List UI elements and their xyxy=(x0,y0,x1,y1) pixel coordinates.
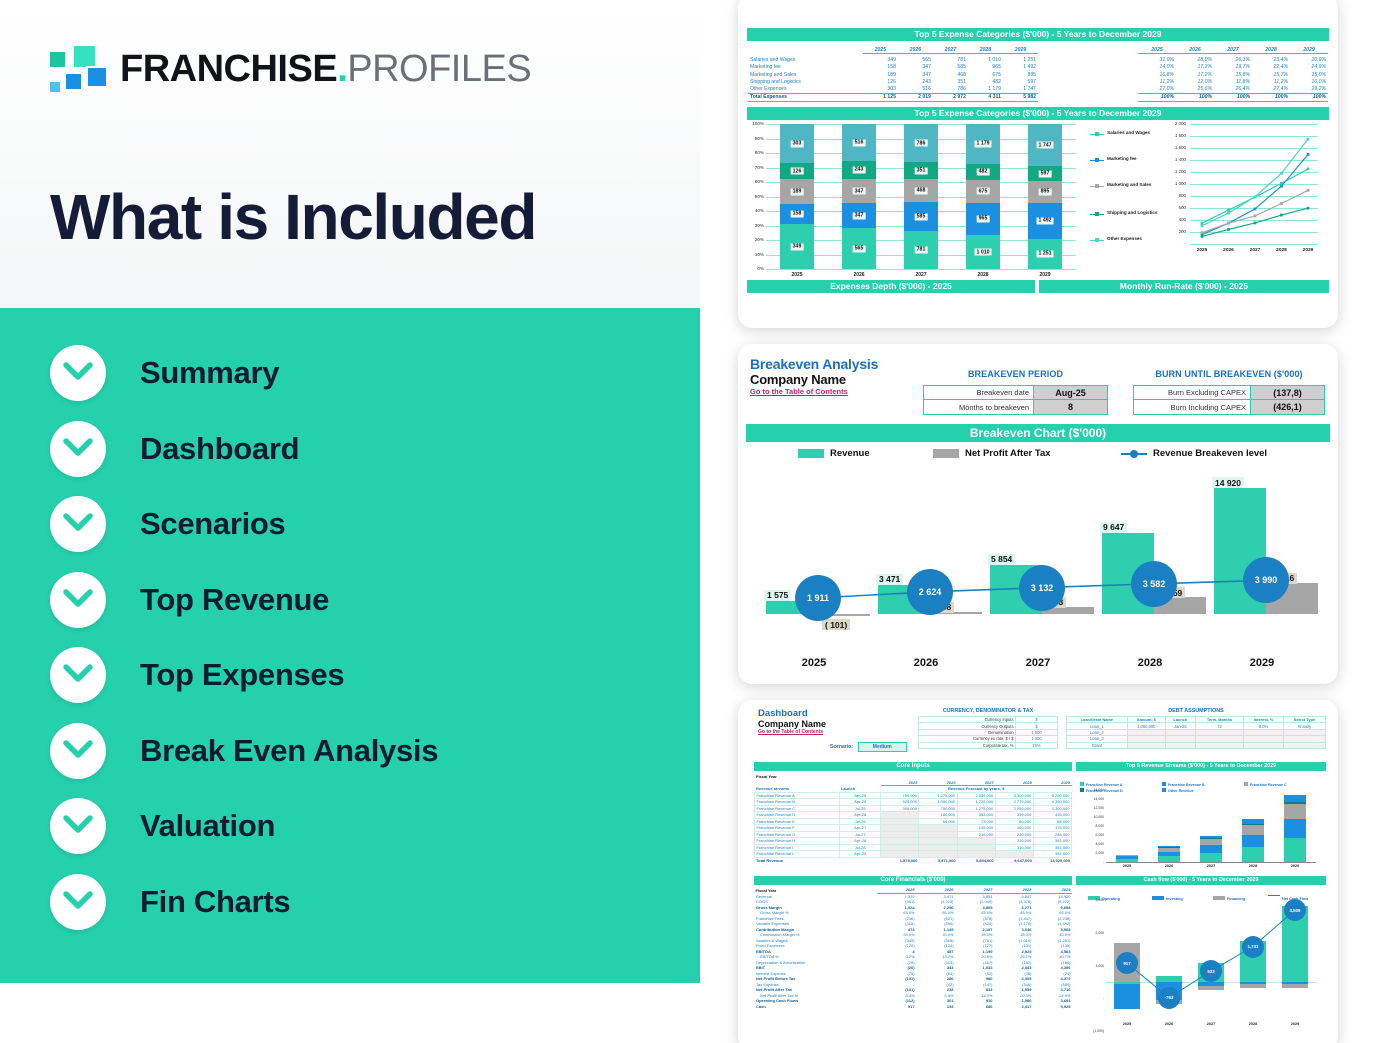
row-label: Cash xyxy=(754,1004,877,1010)
y-tick: (1,000) xyxy=(1074,1029,1104,1033)
x-tick: 2025 xyxy=(1192,248,1212,253)
table-row: Breakeven date Aug-25 xyxy=(923,385,1108,400)
list-item[interactable]: Dashboard xyxy=(50,421,670,477)
y-tick: 2,000 xyxy=(1074,851,1104,855)
chevron-down-icon[interactable] xyxy=(50,647,106,703)
row-value: 917 xyxy=(877,1004,916,1010)
table-row-total: 100%100%100%100%100% xyxy=(1138,93,1328,101)
total-value: 5,854,000 xyxy=(957,857,995,863)
breakeven-company: Company Name xyxy=(750,372,878,387)
x-tick: 2027 xyxy=(982,657,1094,669)
bar-segment: 781 xyxy=(904,231,938,269)
bar-value-label: 158 xyxy=(791,210,804,217)
bar-revenue-label: 9 647 xyxy=(1100,522,1127,533)
x-tick: 2025 xyxy=(780,272,814,278)
table-row: Depreciation & Amortization(29)(113)(167… xyxy=(754,960,1072,966)
total-label: Total Revenue xyxy=(755,857,840,863)
page-title: What is Included xyxy=(50,185,536,249)
monthly-run-rate-footer: Monthly Run-Rate ($'000) - 2025 xyxy=(1039,280,1329,293)
y-tick: 8,000 xyxy=(1074,824,1104,828)
x-tick: 2029 xyxy=(1274,864,1316,868)
core-financials-table: Fiscal Year20252026202720282029Revenue1,… xyxy=(754,887,1072,1009)
core-inputs-title: Core Inputs xyxy=(754,762,1072,771)
x-tick: 2027 xyxy=(1190,1022,1232,1026)
expenses-chart-title: Top 5 Expense Categories ($'000) - 5 Yea… xyxy=(747,107,1329,120)
y-tick: 1 400 xyxy=(1152,157,1186,162)
breakeven-title: Breakeven Analysis xyxy=(750,356,878,372)
table-row-total: Total Revenue1,575,0003,471,0005,854,000… xyxy=(755,857,1072,863)
chart-revenue-streams xyxy=(1106,790,1316,862)
bar-value-label: 597 xyxy=(1039,170,1052,177)
cell[interactable]: Grant xyxy=(1067,742,1128,748)
bar-value-label: 1 179 xyxy=(975,140,992,147)
brand-name-light: PROFILES xyxy=(347,48,531,90)
y-tick: 16,000 xyxy=(1074,788,1104,792)
bar-segment: 597 xyxy=(1028,166,1062,181)
cashflow-bubble: 1,731 xyxy=(1242,936,1264,958)
bar-segment xyxy=(1242,824,1264,826)
bar-value-label: 347 xyxy=(853,212,866,219)
slide-root: FRANCHISE.PROFILES What is Included Summ… xyxy=(0,0,1390,1043)
bar-segment xyxy=(1116,855,1138,856)
feature-label: Summary xyxy=(140,355,279,391)
feature-label: Scenarios xyxy=(140,506,286,542)
cashflow-bubble: 533 xyxy=(1200,960,1222,982)
chevron-down-icon[interactable] xyxy=(50,798,106,854)
debt-header: DEBT ASSUMPTIONS xyxy=(1066,708,1326,714)
table-row: 27,0%25,6%26,4%27,4%29,2% xyxy=(1138,85,1328,93)
cell[interactable] xyxy=(1244,742,1283,748)
col-year: 2029 xyxy=(1003,46,1038,54)
bar-net-profit-label: ( 101) xyxy=(822,619,850,630)
y-tick: 600 xyxy=(1152,205,1186,210)
toc-link[interactable]: Go to the Table of Contents xyxy=(758,729,826,735)
x-tick: 2026 xyxy=(1219,248,1239,253)
cashflow-chart-legend: OperatingInvestingFinancingNet Cash Flow xyxy=(1088,887,1326,897)
y-tick: - xyxy=(1152,241,1186,246)
x-tick: 2028 xyxy=(1272,248,1292,253)
brand-name-bold: FRANCHISE xyxy=(120,48,337,90)
left-footer-background xyxy=(0,983,700,1043)
expenses-depth-footer: Expenses Depth ($'000) - 2025 xyxy=(747,280,1035,293)
breakeven-period-header: BREAKEVEN PERIOD xyxy=(923,369,1108,379)
total-value: 3,471,000 xyxy=(919,857,957,863)
y-tick: 12,000 xyxy=(1074,806,1104,810)
bar-segment xyxy=(1116,856,1138,858)
bar-segment: 126 xyxy=(780,163,814,179)
y-tick: 800 xyxy=(1152,193,1186,198)
dashboard-company: Company Name xyxy=(758,719,826,729)
x-tick: 2029 xyxy=(1298,248,1318,253)
y-tick: 100% xyxy=(740,121,764,126)
expenses-percent-table: 2025 2026 2027 2028 2029 31,0%28,0%26,3%… xyxy=(1138,46,1328,102)
bar-segment xyxy=(1200,839,1222,845)
col-year: 2025 xyxy=(863,46,898,54)
bar-segment: 565 xyxy=(842,228,876,269)
dashboard-title: Dashboard xyxy=(758,708,826,719)
burn-header: BURN UNTIL BREAKEVEN ($'000) xyxy=(1133,369,1325,379)
legend-revenue: Revenue xyxy=(798,448,870,459)
bar-segment: 158 xyxy=(780,204,814,224)
row-value: 2,417 xyxy=(994,1004,1033,1010)
cell[interactable] xyxy=(1195,742,1244,748)
debt-table: Loan/Grant NameAmount, $LaunchTerm, Mont… xyxy=(1066,716,1326,749)
cell[interactable] xyxy=(1127,742,1165,748)
bar-value-label: 482 xyxy=(977,168,990,175)
list-item[interactable]: Top Expenses xyxy=(50,647,670,703)
col-year: 2026 xyxy=(898,46,933,54)
chart-breakeven: 1 575( 101)3 4712385 8548339 6471 95914 … xyxy=(758,464,1318,649)
total-value: 1,575,000 xyxy=(881,857,919,863)
bar-value-label: 243 xyxy=(853,166,866,173)
bar-segment xyxy=(1158,847,1180,848)
bar-segment: 189 xyxy=(780,179,814,203)
chevron-down-icon[interactable] xyxy=(50,874,106,930)
expenses-table-title: Top 5 Expense Categories ($'000) - 5 Yea… xyxy=(747,28,1329,41)
cashflow-bubble: 3,509 xyxy=(1284,899,1306,921)
table-row: Grant xyxy=(1067,742,1326,748)
total-value: 9,647,000 xyxy=(995,857,1033,863)
bar-segment: 1 492 xyxy=(1028,203,1062,239)
bar-segment xyxy=(1200,838,1222,840)
bar-segment: 468 xyxy=(904,179,938,202)
bar-value-label: 675 xyxy=(977,188,990,195)
bar-segment: 482 xyxy=(966,164,1000,180)
revenue-chart-legend: Franchise Revenue AFranchise Revenue BFr… xyxy=(1080,773,1326,787)
bar-segment: 675 xyxy=(966,180,1000,203)
panel-dashboard[interactable]: Dashboard Company Name Go to the Table o… xyxy=(738,700,1338,1043)
bar-value-label: 585 xyxy=(915,213,928,220)
y-tick: 200 xyxy=(1152,229,1186,234)
y-tick: 50% xyxy=(740,194,764,199)
y-tick: 1 200 xyxy=(1152,169,1186,174)
col-year: 2029 xyxy=(1290,46,1328,54)
x-tick: 2026 xyxy=(870,657,982,669)
x-tick: 2027 xyxy=(904,272,938,278)
legend-marker xyxy=(1095,132,1099,136)
bar-value-label: 965 xyxy=(977,215,990,222)
brand-dot: . xyxy=(337,48,347,90)
bar-segment: 516 xyxy=(842,124,876,161)
col-year: 2026 xyxy=(1176,46,1214,54)
bar-segment xyxy=(1242,825,1264,834)
bar-segment: 786 xyxy=(904,124,938,162)
list-item[interactable]: Top Revenue xyxy=(50,572,670,628)
toc-link[interactable]: Go to the Table of Contents xyxy=(750,387,878,396)
y-tick: 400 xyxy=(1152,217,1186,222)
panel-breakeven-analysis[interactable]: Breakeven Analysis Company Name Go to th… xyxy=(738,344,1338,684)
bar-revenue-label: 1 575 xyxy=(764,590,791,601)
legend-net-profit: Net Profit After Tax xyxy=(933,448,1051,459)
y-tick: 1 000 xyxy=(1152,181,1186,186)
legend-marker xyxy=(1095,212,1099,216)
y-tick: 6,000 xyxy=(1074,833,1104,837)
brand-wordmark: FRANCHISE.PROFILES xyxy=(120,50,531,88)
list-item[interactable]: Break Even Analysis xyxy=(50,723,670,779)
bar-value-label: 1 747 xyxy=(1037,142,1054,149)
feature-list: Summary Dashboard Scenarios Top Revenue … xyxy=(50,345,670,949)
bar-segment xyxy=(1158,852,1180,857)
bar-revenue-label: 14 920 xyxy=(1212,477,1244,488)
expenses-values-table: 2025 2026 2027 2028 2029 Salaries and Wa… xyxy=(748,46,1038,102)
breakeven-bubble: 2 624 xyxy=(907,569,953,615)
cashflow-chart-title: Cash flow ($'000) - 5 Years to December … xyxy=(1076,876,1326,885)
bar-segment: 303 xyxy=(780,124,814,163)
gridline xyxy=(766,269,1076,270)
bar-segment: 347 xyxy=(842,179,876,204)
bar-segment: 1 251 xyxy=(1028,239,1062,269)
chart-expenses-stacked: 3491581891263035653473472435167815854683… xyxy=(766,124,1076,269)
x-tick: 2029 xyxy=(1028,272,1062,278)
table-row: Burn Excluding CAPEX (137,8) xyxy=(1133,385,1325,400)
legend-swatch-revenue xyxy=(798,449,824,458)
bar-segment xyxy=(1158,846,1180,847)
bar-segment xyxy=(1242,835,1264,847)
table-row: Cash9171546862,4175,925 xyxy=(754,1004,1072,1010)
y-tick: 80% xyxy=(740,150,764,155)
bar-value-label: 126 xyxy=(791,168,804,175)
scenario-label: Scenario: xyxy=(830,744,853,750)
bar-value-label: 1 010 xyxy=(975,249,992,256)
bar-segment: 349 xyxy=(780,224,814,269)
y-tick: 60% xyxy=(740,179,764,184)
bar-value-label: 565 xyxy=(853,245,866,252)
bar-value-label: 303 xyxy=(791,140,804,147)
bar-value-label: 895 xyxy=(1039,188,1052,195)
breakeven-bubble: 3 132 xyxy=(1019,565,1065,611)
x-tick: 2028 xyxy=(1232,1022,1274,1026)
y-tick: 3,000 xyxy=(1074,898,1104,902)
bar-segment xyxy=(1284,838,1306,862)
legend-swatch xyxy=(1244,782,1248,786)
bar-segment: 1 010 xyxy=(966,235,1000,269)
table-row: 11,2%12,0%11,8%11,2%10,0% xyxy=(1138,78,1328,85)
list-item[interactable]: Valuation xyxy=(50,798,670,854)
y-tick: - xyxy=(1074,996,1104,1000)
x-tick: 2026 xyxy=(1148,1022,1190,1026)
bar-segment: 1 747 xyxy=(1028,124,1062,166)
y-tick: 90% xyxy=(740,136,764,141)
currency-table: Currency Inputs$ Currency Outputs$ Denom… xyxy=(918,716,1058,749)
x-tick: 2029 xyxy=(1206,657,1318,669)
bar-segment xyxy=(1242,847,1264,862)
y-tick: 4,000 xyxy=(1074,842,1104,846)
col-year: 2028 xyxy=(1252,46,1290,54)
y-tick: 2,000 xyxy=(1074,931,1104,935)
bar-value-label: 516 xyxy=(853,139,866,146)
bar-segment: 347 xyxy=(842,203,876,228)
bar-value-label: 1 492 xyxy=(1037,217,1054,224)
bar-segment: 965 xyxy=(966,203,1000,235)
table-row: 16,8%17,2%15,8%15,7%15,0% xyxy=(1138,71,1328,78)
x-tick: 2026 xyxy=(1148,864,1190,868)
feature-label: Top Expenses xyxy=(140,657,344,693)
bar-revenue-label: 5 854 xyxy=(988,554,1015,565)
legend-swatch-breakeven xyxy=(1121,449,1147,458)
y-tick: 1 800 xyxy=(1152,133,1186,138)
breakeven-chart-title: Breakeven Chart ($'000) xyxy=(746,424,1330,442)
legend-breakeven-level: Revenue Breakeven level xyxy=(1121,448,1267,459)
bar-segment xyxy=(1242,819,1264,824)
x-tick: 2025 xyxy=(1106,1022,1148,1026)
core-financials-title: Core Financials ($'000) xyxy=(754,876,1072,885)
legend-marker xyxy=(1095,184,1099,188)
breakeven-bubble: 1 911 xyxy=(795,575,841,621)
table-row: Burn Including CAPEX (426,1) xyxy=(1133,400,1325,415)
table-row: Marketing and Sales189347468675895 xyxy=(748,71,1038,78)
bar-segment: 1 179 xyxy=(966,124,1000,164)
x-tick: 2027 xyxy=(1190,864,1232,868)
row-value: 686 xyxy=(955,1004,994,1010)
cell[interactable] xyxy=(1283,742,1325,748)
bar-value-label: 347 xyxy=(853,188,866,195)
legend-item: Franchise Revenue C xyxy=(1244,773,1287,791)
table-row: 14,0%17,2%19,7%22,4%24,9% xyxy=(1138,64,1328,71)
panel-top-expenses[interactable]: Top 5 Expense Categories ($'000) - 5 Yea… xyxy=(738,0,1338,328)
chart-monthly-run-rate xyxy=(1190,124,1318,252)
bar-segment: 895 xyxy=(1028,181,1062,203)
bar-segment xyxy=(1284,802,1306,804)
logo-squares-icon xyxy=(48,44,106,94)
col-year: 2027 xyxy=(933,46,968,54)
bar-value-label: 781 xyxy=(915,246,928,253)
brand-logo: FRANCHISE.PROFILES xyxy=(48,44,531,94)
x-tick: 2026 xyxy=(842,272,876,278)
feature-label: Fin Charts xyxy=(140,884,290,920)
bar-segment xyxy=(1200,836,1222,838)
table-row: Corporate tax, %15% xyxy=(919,742,1058,748)
total-value: 14,920,000 xyxy=(1033,857,1071,863)
table-row: Salaries and Wages3495657811 0101 251 xyxy=(748,57,1038,64)
table-row: Other Expenses3035167861 1791 747 xyxy=(748,85,1038,93)
chart-run-rate-legend: Salaries and WagesMarketing feeMarketing… xyxy=(1090,126,1160,271)
x-tick: 2028 xyxy=(966,272,1000,278)
cashflow-bubble: -763 xyxy=(1158,987,1180,1009)
bar-revenue-label: 3 471 xyxy=(876,574,903,585)
feature-label: Valuation xyxy=(140,808,275,844)
bar-segment xyxy=(1284,795,1306,802)
bar-segment: 243 xyxy=(842,161,876,178)
list-item[interactable]: Scenarios xyxy=(50,496,670,552)
bar-value-label: 786 xyxy=(915,140,928,147)
bar-segment: 585 xyxy=(904,202,938,231)
feature-label: Break Even Analysis xyxy=(140,733,438,769)
breakeven-bubble: 3 582 xyxy=(1131,561,1177,607)
y-tick: 0% xyxy=(740,266,764,271)
table-row-total: Total Expenses1 1252 0192 9724 3115 982 xyxy=(748,93,1038,101)
legend-swatch xyxy=(1268,895,1280,896)
revenue-chart-title: Top 5 Revenue Streams ($'000) - 5 Years … xyxy=(1076,762,1326,771)
x-tick: 2028 xyxy=(1094,657,1206,669)
y-tick: 70% xyxy=(740,165,764,170)
bar-segment: 351 xyxy=(904,162,938,179)
cell[interactable] xyxy=(1166,742,1196,748)
chevron-down-icon[interactable] xyxy=(50,345,106,401)
table-row: 31,0%28,0%26,3%23,4%20,9% xyxy=(1138,57,1328,64)
y-tick: 40% xyxy=(740,208,764,213)
x-tick: 2025 xyxy=(1106,864,1148,868)
feature-label: Top Revenue xyxy=(140,582,329,618)
scenario-selector[interactable]: Scenario: Medium xyxy=(830,742,907,752)
x-tick: 2025 xyxy=(758,657,870,669)
feature-label: Dashboard xyxy=(140,431,299,467)
x-tick: 2027 xyxy=(1245,248,1265,253)
table-row: Marketing fee1583475859651 492 xyxy=(748,64,1038,71)
list-item[interactable]: Fin Charts xyxy=(50,874,670,930)
legend-label: Franchise Revenue C xyxy=(1250,783,1287,787)
col-year: 2027 xyxy=(1214,46,1252,54)
bar-value-label: 468 xyxy=(915,187,928,194)
y-tick: 20% xyxy=(740,237,764,242)
bar-segment xyxy=(1284,804,1306,819)
currency-header: CURRENCY, DENOMINATOR & TAX xyxy=(918,708,1058,714)
legend-marker xyxy=(1095,238,1099,242)
y-tick: 1 600 xyxy=(1152,145,1186,150)
row-value: 154 xyxy=(916,1004,955,1010)
bar-value-label: 1 251 xyxy=(1037,250,1054,257)
row-value: 5,925 xyxy=(1033,1004,1072,1010)
bar-value-label: 351 xyxy=(915,167,928,174)
legend-swatch-net-profit xyxy=(933,449,959,458)
gridline xyxy=(1190,244,1318,245)
y-tick: 14,000 xyxy=(1074,797,1104,801)
table-row: Months to breakeven 8 xyxy=(923,400,1108,415)
y-tick: 10,000 xyxy=(1074,815,1104,819)
breakeven-bubble: 3 990 xyxy=(1243,557,1289,603)
y-tick: 2 000 xyxy=(1152,121,1186,126)
list-item[interactable]: Summary xyxy=(50,345,670,401)
col-year: 2028 xyxy=(968,46,1003,54)
x-tick: 2028 xyxy=(1232,864,1274,868)
chevron-down-icon[interactable] xyxy=(50,723,106,779)
y-tick: 1,000 xyxy=(1074,964,1104,968)
y-tick: 30% xyxy=(740,223,764,228)
chevron-down-icon[interactable] xyxy=(50,496,106,552)
axis-line xyxy=(1106,862,1316,863)
bar-value-label: 189 xyxy=(791,188,804,195)
chevron-down-icon[interactable] xyxy=(50,572,106,628)
y-tick: - xyxy=(1074,860,1104,864)
col-year: 2025 xyxy=(1138,46,1176,54)
x-tick: 2029 xyxy=(1274,1022,1316,1026)
y-tick: 10% xyxy=(740,252,764,257)
chart-cash-flow: 917-7635331,7313,509 xyxy=(1106,900,1316,1020)
chevron-down-icon[interactable] xyxy=(50,421,106,477)
bar-segment xyxy=(1158,848,1180,851)
revenue-streams-table: Fiscal Year20252026202720282029Revenue s… xyxy=(754,774,1072,863)
legend-label: Shipping and Logistics xyxy=(1107,210,1159,216)
legend-marker xyxy=(1095,158,1099,162)
bar-value-label: 349 xyxy=(791,243,804,250)
bar-segment xyxy=(1284,819,1306,839)
bar-segment xyxy=(1200,845,1222,853)
scenario-value[interactable]: Medium xyxy=(858,742,907,752)
table-row: Shipping and Logistics126243351482597 xyxy=(748,78,1038,85)
